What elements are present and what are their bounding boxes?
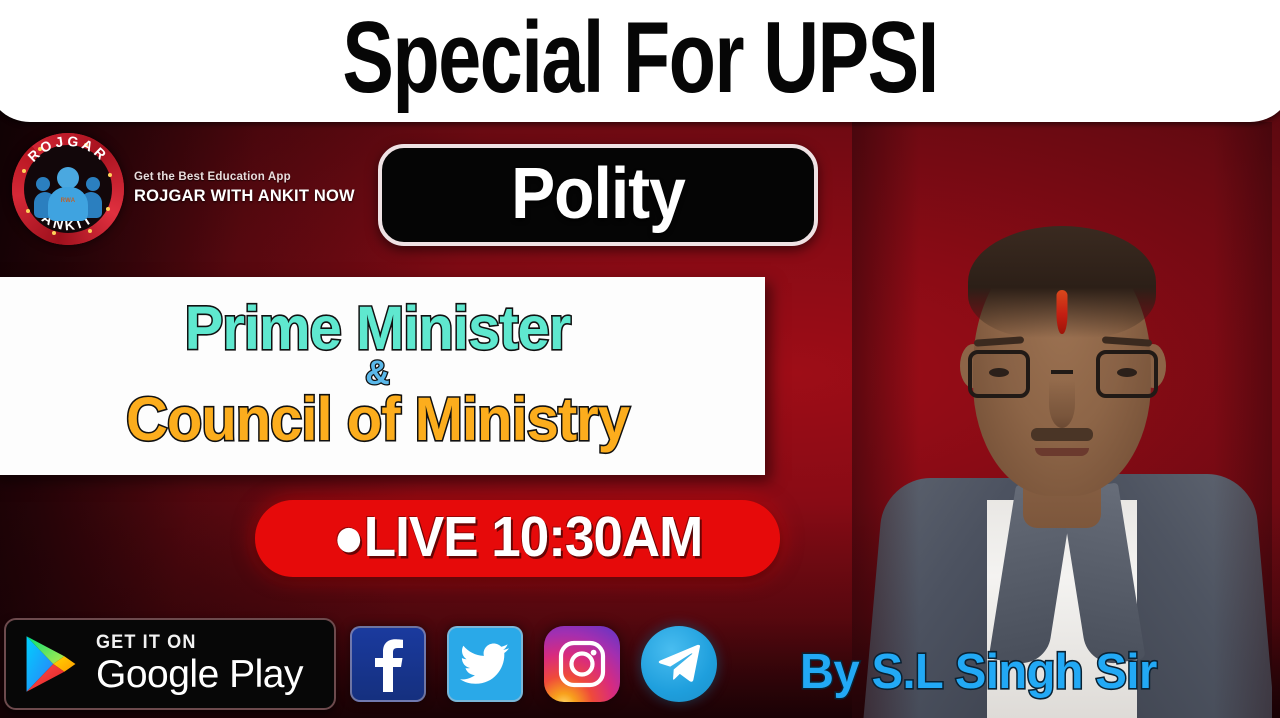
twitter-icon[interactable] <box>447 626 523 702</box>
topic-line-1: Prime Minister <box>185 297 571 360</box>
presenter-credit: By S.L Singh Sir <box>800 646 1280 695</box>
instagram-camera-glyph <box>557 639 607 689</box>
brand-text: Get the Best Education App ROJGAR WITH A… <box>134 171 355 208</box>
google-play-badge[interactable]: GET IT ON Google Play <box>4 618 336 710</box>
title-banner: Special For UPSI <box>0 0 1280 122</box>
twitter-bird-glyph <box>460 643 510 685</box>
telegram-icon[interactable] <box>641 626 717 702</box>
svg-text:ROJGAR: ROJGAR <box>24 133 111 165</box>
brand-block[interactable]: ROJGAR ANKIT RWA Get the Best Education … <box>12 133 362 245</box>
page-title: Special For UPSI <box>342 0 937 107</box>
store-badge-bottom-label: Google Play <box>96 655 303 696</box>
live-time-badge: ●LIVE 10:30AM <box>255 500 780 577</box>
google-play-triangle-icon <box>24 634 78 694</box>
instagram-icon[interactable] <box>544 626 620 702</box>
logo-center-text: RWA <box>61 198 76 204</box>
social-links-row <box>350 620 717 708</box>
rojgar-ankit-logo-icon: ROJGAR ANKIT RWA <box>12 133 124 245</box>
moustache <box>1031 428 1093 441</box>
eye-right <box>1117 368 1137 377</box>
nose <box>1049 380 1075 428</box>
telegram-plane-glyph <box>655 643 703 685</box>
logo-people-icon: RWA <box>34 167 102 219</box>
presenter-photo <box>852 122 1272 718</box>
topic-banner: Prime Minister & Council of Ministry <box>0 277 765 475</box>
eyeglass-bridge <box>1051 370 1073 374</box>
facebook-f-glyph <box>367 636 409 692</box>
topic-line-2: Council of Ministry <box>126 388 629 451</box>
brand-tagline: Get the Best Education App <box>134 170 355 183</box>
live-label: ●LIVE 10:30AM <box>333 509 703 569</box>
brand-name: ROJGAR WITH ANKIT NOW <box>134 187 355 206</box>
subject-label: Polity <box>511 157 685 234</box>
store-badge-top-label: GET IT ON <box>96 632 293 654</box>
eye-left <box>989 368 1009 377</box>
facebook-icon[interactable] <box>350 626 426 702</box>
mouth <box>1035 448 1089 456</box>
subject-badge: Polity <box>378 144 818 246</box>
tilak-icon <box>1057 290 1068 334</box>
promo-poster: Special For UPSI <box>0 0 1280 718</box>
